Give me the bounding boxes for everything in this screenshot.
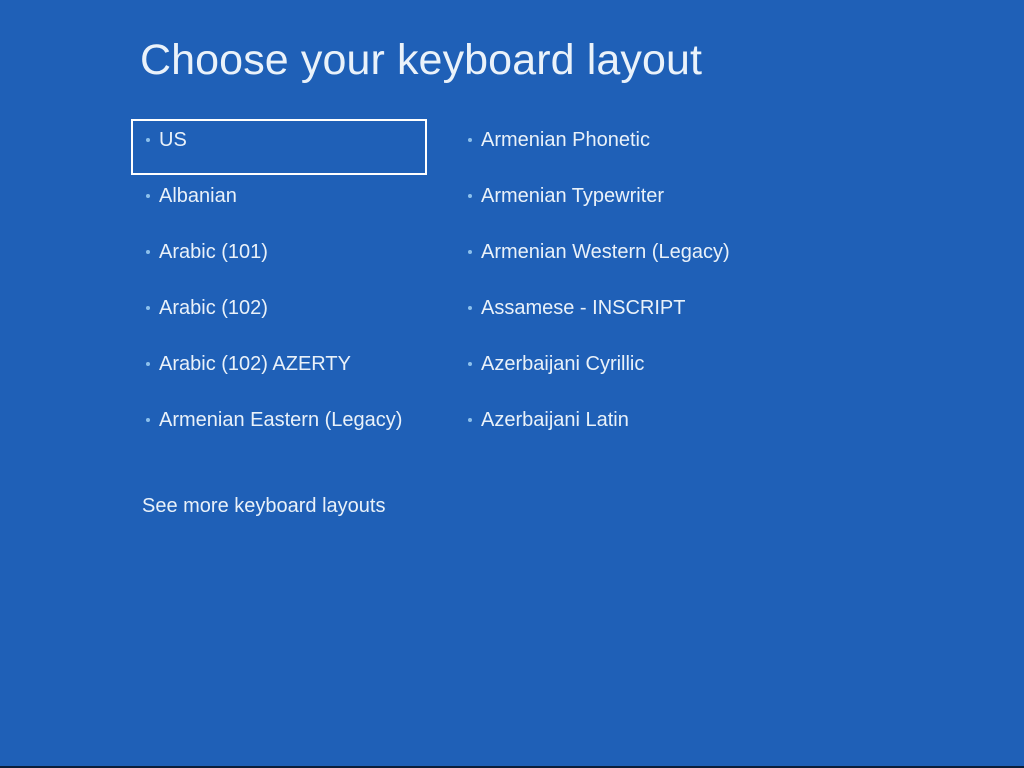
bullet-dot-icon bbox=[146, 362, 150, 366]
keyboard-layout-item[interactable]: Azerbaijani Latin bbox=[460, 399, 880, 455]
keyboard-layout-label: Arabic (102) AZERTY bbox=[159, 351, 351, 377]
keyboard-layout-label: Azerbaijani Cyrillic bbox=[481, 351, 644, 377]
keyboard-layout-label: Assamese - INSCRIPT bbox=[481, 295, 685, 321]
keyboard-layout-item[interactable]: Azerbaijani Cyrillic bbox=[460, 343, 880, 399]
keyboard-layout-item[interactable]: Arabic (101) bbox=[131, 231, 431, 287]
bullet-dot-icon bbox=[468, 194, 472, 198]
bullet-dot-icon bbox=[468, 306, 472, 310]
bullet-dot-icon bbox=[146, 418, 150, 422]
bullet-dot-icon bbox=[468, 418, 472, 422]
bullet-dot-icon bbox=[146, 138, 150, 142]
keyboard-layout-list-left: USAlbanianArabic (101)Arabic (102)Arabic… bbox=[131, 119, 431, 455]
bullet-dot-icon bbox=[468, 250, 472, 254]
keyboard-layout-item[interactable]: US bbox=[131, 119, 427, 175]
keyboard-layout-label: US bbox=[159, 127, 187, 153]
bullet-dot-icon bbox=[468, 138, 472, 142]
keyboard-layout-label: Armenian Typewriter bbox=[481, 183, 664, 209]
bullet-dot-icon bbox=[468, 362, 472, 366]
page-title: Choose your keyboard layout bbox=[140, 36, 702, 85]
keyboard-layout-label: Albanian bbox=[159, 183, 237, 209]
keyboard-layout-label: Armenian Phonetic bbox=[481, 127, 650, 153]
keyboard-layout-item[interactable]: Armenian Eastern (Legacy) bbox=[131, 399, 431, 455]
keyboard-layout-item[interactable]: Armenian Phonetic bbox=[460, 119, 880, 175]
bullet-dot-icon bbox=[146, 250, 150, 254]
keyboard-layout-item[interactable]: Arabic (102) AZERTY bbox=[131, 343, 431, 399]
bullet-dot-icon bbox=[146, 194, 150, 198]
keyboard-layout-label: Armenian Eastern (Legacy) bbox=[159, 407, 402, 433]
see-more-keyboard-layouts-link[interactable]: See more keyboard layouts bbox=[142, 493, 385, 519]
keyboard-layout-item[interactable]: Albanian bbox=[131, 175, 431, 231]
keyboard-layout-list-right: Armenian PhoneticArmenian TypewriterArme… bbox=[460, 119, 880, 455]
keyboard-layout-item[interactable]: Armenian Typewriter bbox=[460, 175, 880, 231]
bullet-dot-icon bbox=[146, 306, 150, 310]
keyboard-layout-item[interactable]: Armenian Western (Legacy) bbox=[460, 231, 880, 287]
keyboard-layout-label: Armenian Western (Legacy) bbox=[481, 239, 730, 265]
keyboard-layout-item[interactable]: Arabic (102) bbox=[131, 287, 431, 343]
keyboard-layout-label: Arabic (101) bbox=[159, 239, 268, 265]
keyboard-layout-label: Azerbaijani Latin bbox=[481, 407, 629, 433]
keyboard-layout-item[interactable]: Assamese - INSCRIPT bbox=[460, 287, 880, 343]
keyboard-layout-screen: Choose your keyboard layout USAlbanianAr… bbox=[0, 0, 1024, 768]
keyboard-layout-label: Arabic (102) bbox=[159, 295, 268, 321]
